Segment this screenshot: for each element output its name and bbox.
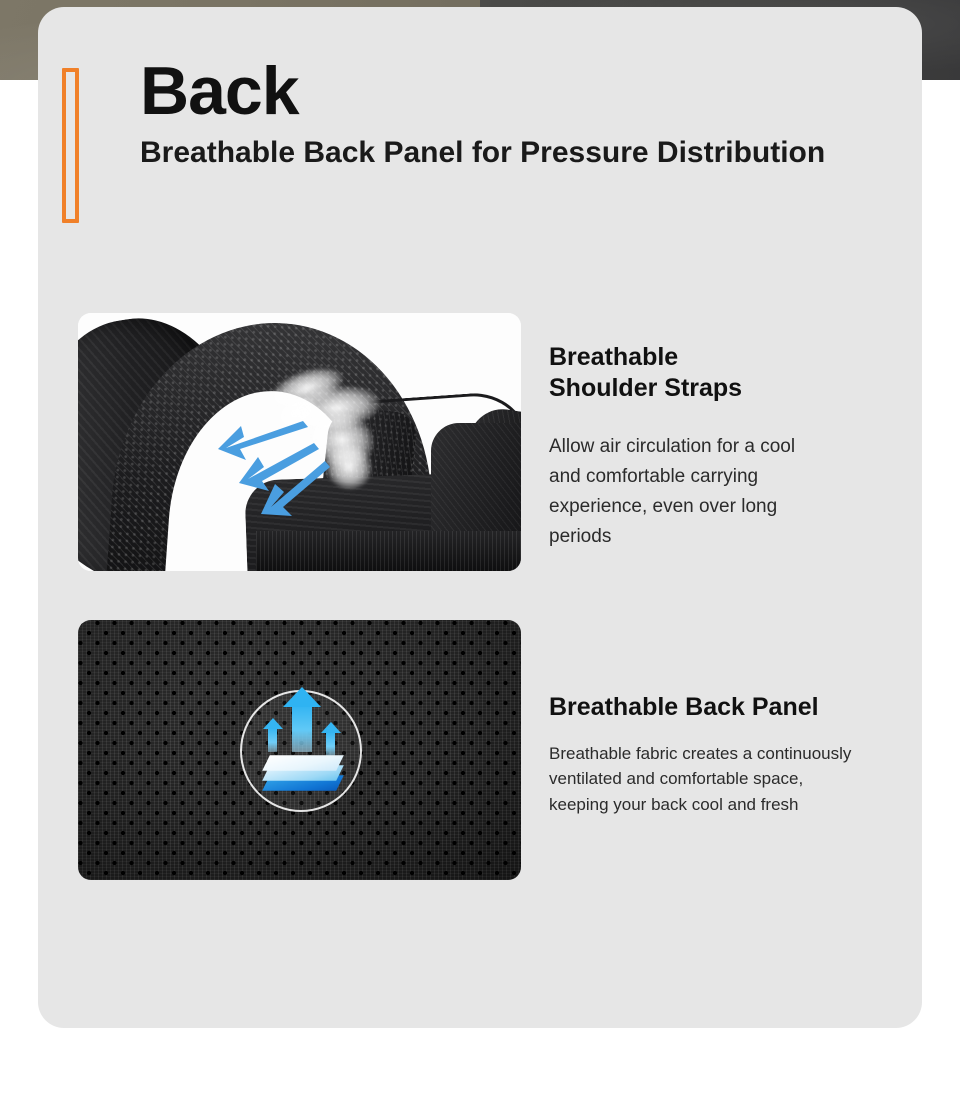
shoulder-strap-airflow-photo bbox=[78, 313, 521, 571]
badge-icon-inner bbox=[242, 692, 360, 810]
breathable-mesh-panel-photo bbox=[78, 620, 521, 880]
upward-airflow-arrow-icon bbox=[326, 732, 335, 756]
feature-text-shoulder-straps: Breathable Shoulder Straps Allow air cir… bbox=[549, 313, 921, 552]
page-title: Back bbox=[140, 57, 825, 125]
feature-block-shoulder-straps: Breathable Shoulder Straps Allow air cir… bbox=[78, 313, 921, 571]
header-text: Back Breathable Back Panel for Pressure … bbox=[140, 57, 825, 169]
feature-title: Breathable Shoulder Straps bbox=[549, 342, 921, 403]
strap-photo-scene bbox=[78, 313, 521, 571]
feature-description: Breathable fabric creates a continuously… bbox=[549, 741, 921, 818]
feature-text-back-panel: Breathable Back Panel Breathable fabric … bbox=[549, 620, 921, 818]
orange-accent-bar bbox=[62, 68, 79, 223]
feature-title: Breathable Back Panel bbox=[549, 692, 921, 723]
layered-breathability-badge-icon bbox=[240, 690, 362, 812]
fabric-layer-top bbox=[262, 755, 344, 771]
product-feature-infographic: Back Breathable Back Panel for Pressure … bbox=[0, 0, 960, 1110]
page-subtitle: Breathable Back Panel for Pressure Distr… bbox=[140, 137, 825, 169]
upward-airflow-arrow-icon bbox=[292, 704, 312, 752]
feature-description: Allow air circulation for a cool and com… bbox=[549, 432, 921, 552]
feature-block-back-panel: Breathable Back Panel Breathable fabric … bbox=[78, 620, 921, 880]
airflow-arrows-group bbox=[78, 313, 521, 571]
upward-airflow-arrow-icon bbox=[268, 728, 277, 752]
